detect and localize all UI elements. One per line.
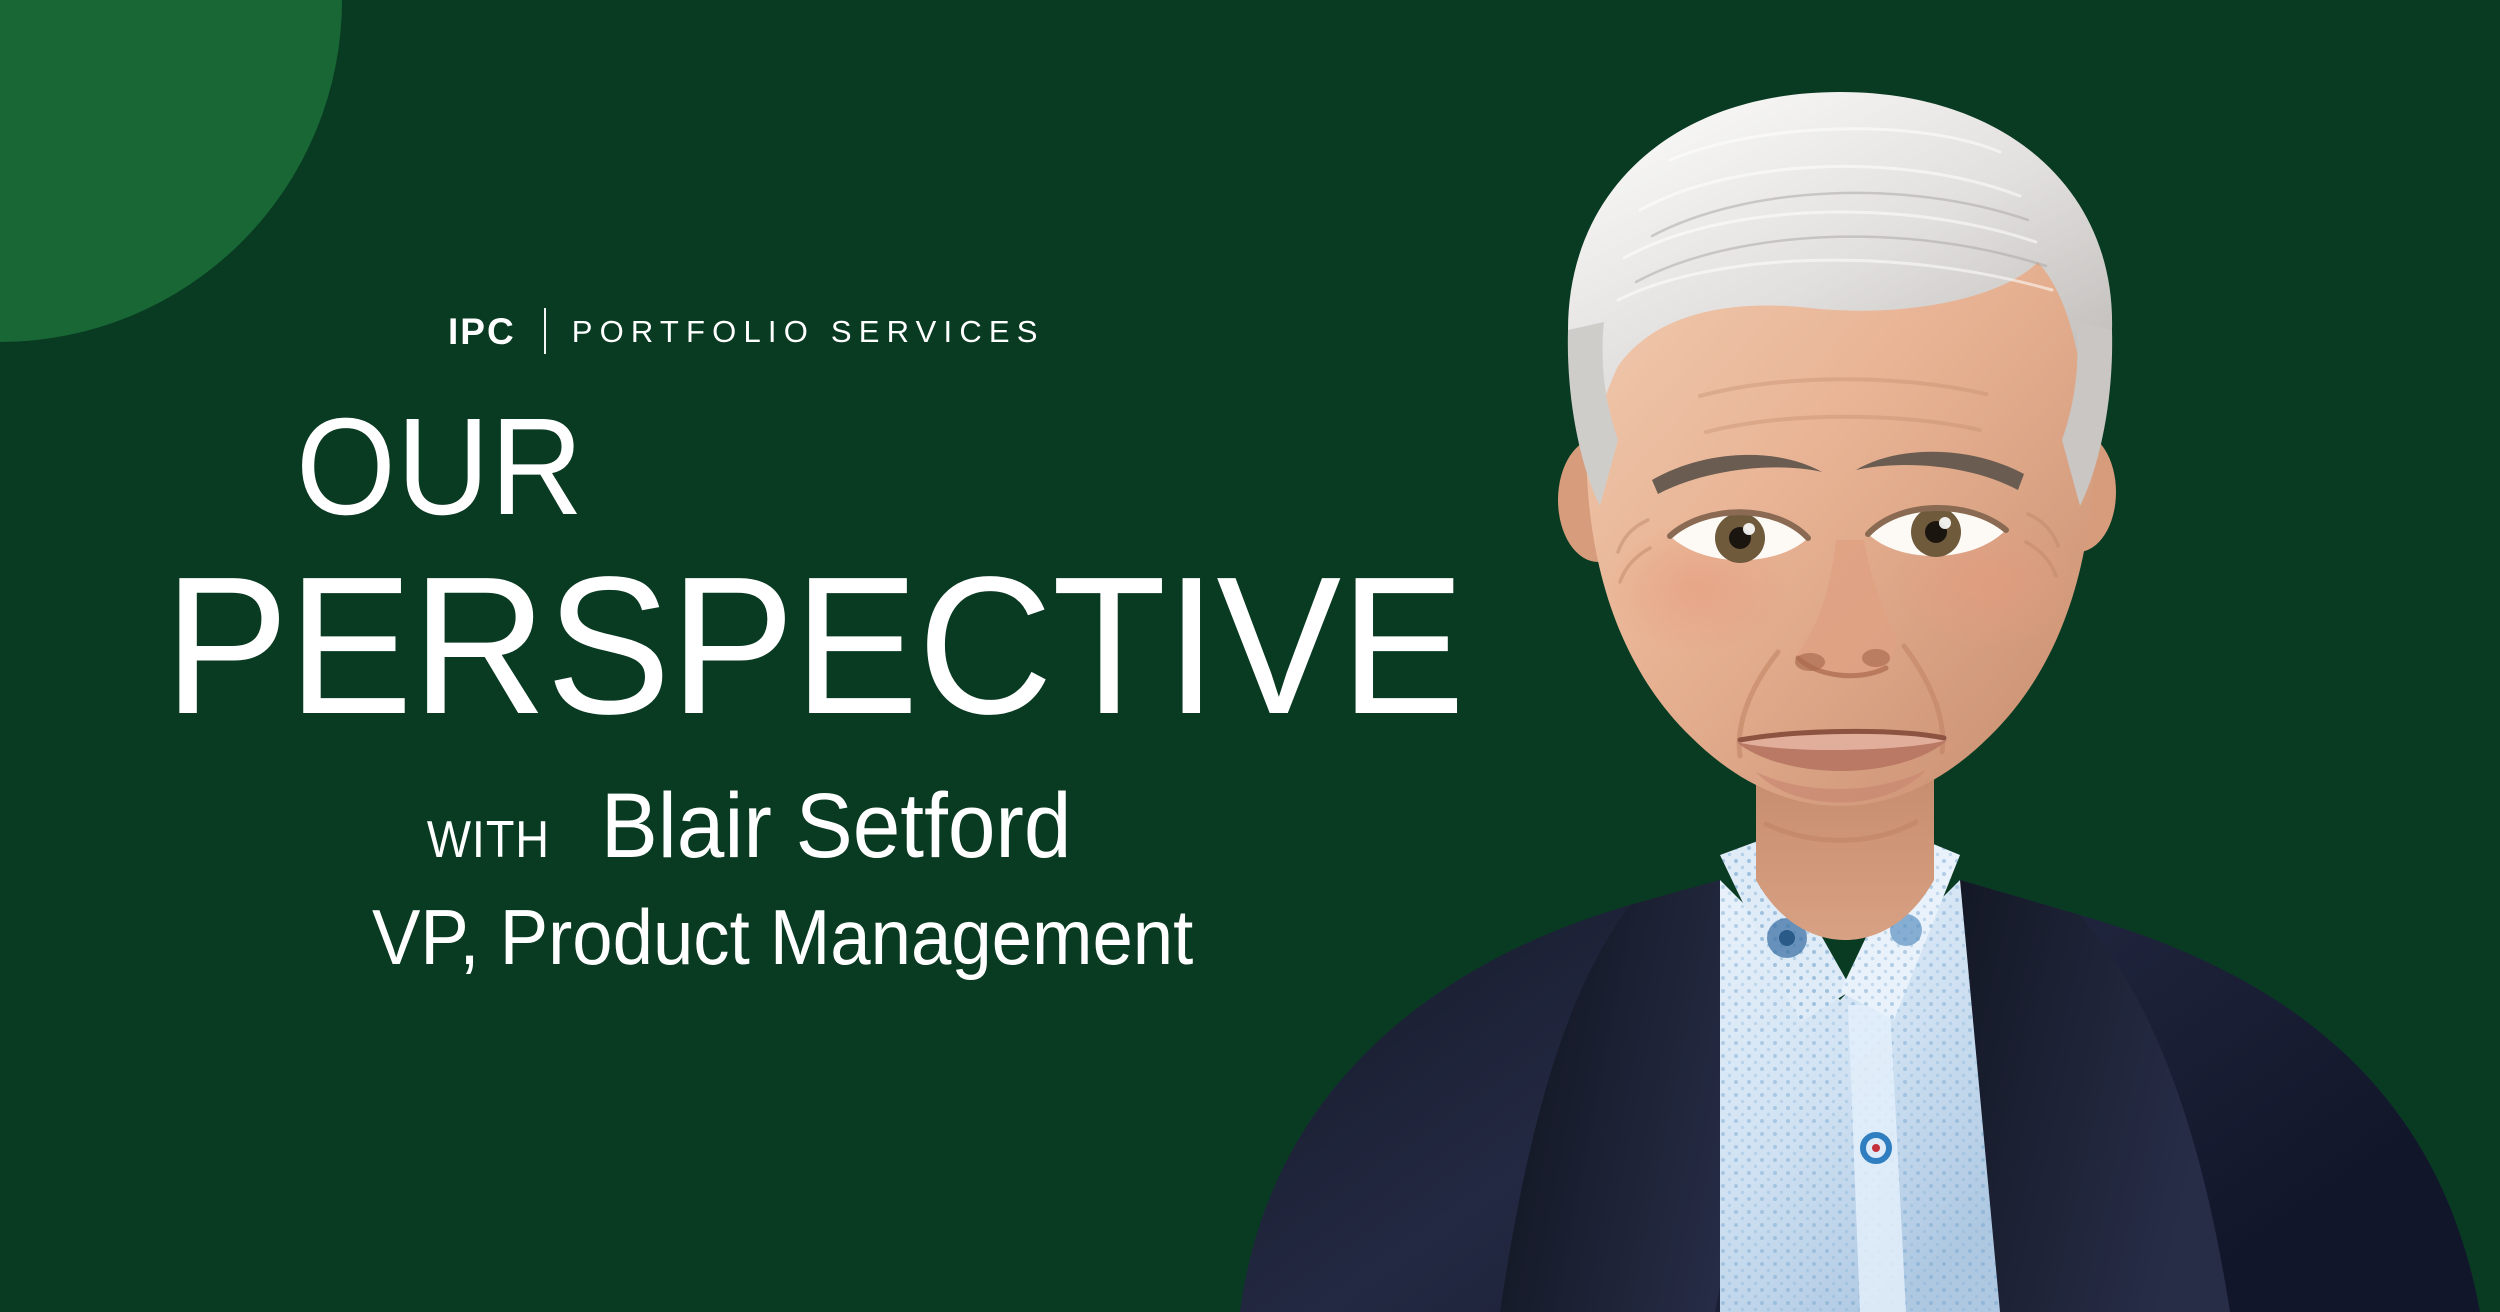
byline-preposition: WITH bbox=[427, 810, 550, 870]
brand-name-portfolio-services: PORTFOLIO SERVICES bbox=[572, 316, 1045, 347]
byline-person-title: VP, Product Management bbox=[372, 898, 1193, 976]
byline-person-name: Blair Setford bbox=[601, 774, 1072, 879]
headline-line-two: PERSPECTIVE bbox=[164, 548, 1464, 744]
banner-card: IPC PORTFOLIO SERVICES OUR PERSPECTIVE W… bbox=[0, 0, 2500, 1312]
headline-line-one: OUR bbox=[296, 398, 584, 536]
brand-divider-icon bbox=[544, 308, 546, 354]
byline: WITH Blair Setford bbox=[420, 774, 1089, 879]
brand-lockup: IPC PORTFOLIO SERVICES bbox=[448, 308, 1045, 354]
brand-mark-ipc: IPC bbox=[448, 313, 516, 350]
